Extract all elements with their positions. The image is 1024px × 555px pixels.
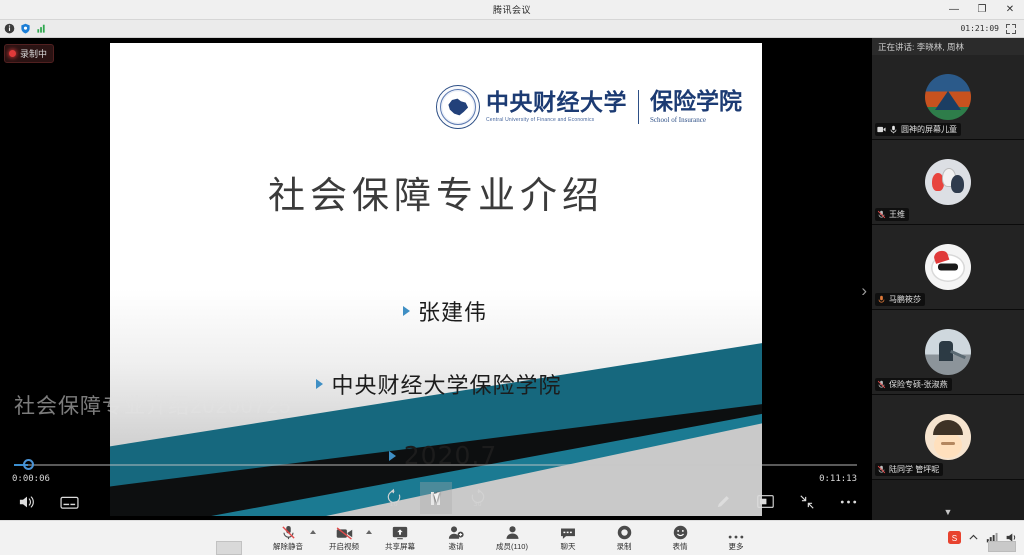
chat-icon [560, 525, 576, 540]
microphone-icon [889, 125, 898, 134]
recording-dot-icon [9, 50, 16, 57]
seek-handle[interactable] [23, 459, 34, 470]
taskbar-window-thumb[interactable] [216, 541, 242, 555]
minimize-button[interactable]: — [940, 0, 968, 20]
university-name-cn: 中央财经大学 [486, 91, 627, 115]
toolbar-item-invite[interactable]: 邀请 [436, 525, 476, 552]
toolbar-item-emoji[interactable]: 表情 [660, 525, 700, 552]
university-name-en: Central University of Finance and Econom… [486, 117, 627, 123]
active-speaker-bar: 正在讲话: 李晓林, 周林 [872, 38, 1024, 55]
close-button[interactable]: ✕ [996, 0, 1024, 20]
toolbar-label-unmute: 解除静音 [273, 541, 303, 552]
shared-screen-stage: 录制中 中央财经大学 Central University of Finance… [0, 38, 871, 520]
slide-bullet-2-text: 中央财经大学保险学院 [331, 368, 561, 400]
school-name-cn: 保险学院 [650, 90, 742, 114]
share-screen-icon [392, 525, 408, 540]
next-slide-arrow-icon[interactable]: › [861, 282, 867, 299]
camera-off-icon [336, 525, 353, 540]
shield-icon[interactable] [20, 23, 31, 34]
participant-label: 马鹏筱莎 [875, 293, 925, 306]
toolbar-label-members: 成员(110) [496, 541, 528, 552]
recording-badge: 录制中 [4, 44, 54, 63]
participant-name: 保险专硕-张淑燕 [889, 379, 948, 390]
toolbar-label-start-video: 开启视频 [329, 541, 359, 552]
toolbar-label-record: 录制 [617, 541, 632, 552]
pause-icon [431, 492, 440, 505]
slide-bullet-1-text: 张建伟 [418, 295, 487, 327]
participant-label: 圆神的屏幕儿童 [875, 123, 961, 136]
total-time-label: 0:11:13 [819, 474, 857, 484]
toolbar-item-members[interactable]: 成员(110) [492, 525, 532, 552]
members-icon [505, 525, 520, 540]
fullscreen-icon[interactable] [1006, 24, 1016, 34]
chevron-up-icon[interactable] [310, 530, 316, 534]
subtitles-icon[interactable] [60, 495, 79, 510]
group-photo-avatar [925, 159, 971, 205]
info-icon[interactable] [4, 23, 15, 34]
toolbar-item-record[interactable]: 录制 [604, 525, 644, 552]
microphone-muted-icon [877, 380, 886, 389]
meeting-status-bar: 01:21:09 [0, 20, 1024, 38]
university-logo: 中央财经大学 Central University of Finance and… [436, 85, 742, 129]
rewind-10-icon[interactable]: 10 [384, 488, 404, 508]
cartoon-avatar [925, 414, 971, 460]
toolbar-item-share-screen[interactable]: 共享屏幕 [380, 525, 420, 552]
participant-sidebar: 正在讲话: 李晓林, 周林 圆神的屏幕儿童 [871, 38, 1024, 520]
player-right-controls [715, 493, 857, 510]
system-tray: S [948, 520, 1022, 555]
more-dots-icon [728, 525, 744, 540]
window-controls: — ❐ ✕ [940, 0, 1024, 20]
app-s-icon[interactable]: S [948, 531, 961, 544]
toolbar-item-chat[interactable]: 聊天 [548, 525, 588, 552]
participant-name: 王维 [889, 209, 905, 220]
participant-tile[interactable]: 王维 [872, 140, 1024, 225]
invite-icon [448, 525, 464, 540]
university-seal-icon [436, 85, 480, 129]
microphone-muted-icon [877, 210, 886, 219]
toolbar-label-share-screen: 共享屏幕 [385, 541, 415, 552]
ime-indicator[interactable] [988, 541, 1016, 552]
signal-icon[interactable] [36, 23, 47, 34]
status-bar-right: 01:21:09 [960, 24, 1020, 34]
bullet-triangle-icon [403, 306, 410, 316]
tencent-meeting-window: 腾讯会议 — ❐ ✕ 01:21:09 [0, 0, 1024, 555]
toolbar-item-more[interactable]: 更多 [716, 525, 756, 552]
microphone-muted-icon [877, 465, 886, 474]
meeting-timer: 01:21:09 [960, 24, 999, 33]
camera-icon [877, 125, 886, 134]
seek-bar[interactable] [14, 458, 857, 472]
toolbar-label-more: 更多 [729, 541, 744, 552]
exit-fullscreen-icon[interactable] [799, 494, 815, 510]
record-icon [617, 525, 632, 540]
slide-bullet-1: 张建伟 [110, 295, 762, 327]
forward-30-icon[interactable]: 30 [468, 488, 488, 508]
participant-tile[interactable]: 马鹏筱莎 [872, 225, 1024, 310]
mic-muted-icon [281, 525, 296, 540]
microphone-muted-icon [877, 295, 886, 304]
toolbar-label-emoji: 表情 [673, 541, 688, 552]
participant-name: 陆同学 管坪呢 [889, 464, 939, 475]
presentation-slide: 中央财经大学 Central University of Finance and… [110, 43, 762, 516]
participant-tile[interactable]: 保险专硕-张淑燕 [872, 310, 1024, 395]
toolbar-item-start-video[interactable]: 开启视频 [324, 525, 364, 552]
participant-label: 王维 [875, 208, 909, 221]
participant-tile[interactable]: 陆同学 管坪呢 [872, 395, 1024, 480]
participant-name: 马鹏筱莎 [889, 294, 921, 305]
participant-label: 保险专硕-张淑燕 [875, 378, 952, 391]
hello-kitty-avatar [925, 244, 971, 290]
person-avatar [925, 329, 971, 375]
participant-label: 陆同学 管坪呢 [875, 463, 943, 476]
pencil-icon[interactable] [715, 493, 732, 510]
logo-divider [638, 90, 639, 124]
emoji-icon [673, 525, 688, 540]
participant-name: 圆神的屏幕儿童 [901, 124, 957, 135]
video-player-controls: 0:00:06 0:11:13 [0, 450, 871, 520]
video-overlay-title: 社会保障专业介绍20200725 [14, 390, 291, 420]
chevron-up-icon[interactable] [967, 531, 980, 544]
player-center-controls: 10 30 [384, 482, 488, 514]
toolbar-label-chat: 聊天 [561, 541, 576, 552]
active-speaker-label: 正在讲话: 李晓林, 周林 [878, 41, 964, 53]
bullet-triangle-icon [316, 379, 323, 389]
mountain-avatar [925, 74, 971, 120]
rewind-seconds-label: 10 [384, 500, 404, 508]
player-left-controls [18, 494, 79, 510]
pause-button[interactable] [420, 482, 452, 514]
toolbar-label-invite: 邀请 [449, 541, 464, 552]
window-title: 腾讯会议 [493, 3, 531, 16]
chevron-up-icon[interactable] [366, 530, 372, 534]
current-time-label: 0:00:06 [12, 474, 50, 484]
picture-in-picture-icon[interactable] [757, 495, 774, 508]
meeting-toolbar: 解除静音 开启视频 共享屏幕 [0, 520, 1024, 555]
participant-tile[interactable]: 圆神的屏幕儿童 [872, 55, 1024, 140]
sidebar-scroll-down-icon[interactable]: ▼ [872, 504, 1024, 520]
toolbar-item-unmute[interactable]: 解除静音 [268, 525, 308, 552]
status-icon-group [4, 23, 47, 34]
svg-text:S: S [952, 534, 958, 543]
player-more-icon[interactable] [840, 499, 857, 505]
school-name-en: School of Insurance [650, 116, 742, 124]
window-title-bar: 腾讯会议 — ❐ ✕ [0, 0, 1024, 20]
maximize-button[interactable]: ❐ [968, 0, 996, 20]
forward-seconds-label: 30 [468, 500, 488, 508]
slide-title: 社会保障专业介绍 [110, 165, 762, 219]
recording-label: 录制中 [20, 47, 47, 60]
seek-track[interactable] [14, 464, 857, 466]
volume-icon[interactable] [18, 494, 36, 510]
